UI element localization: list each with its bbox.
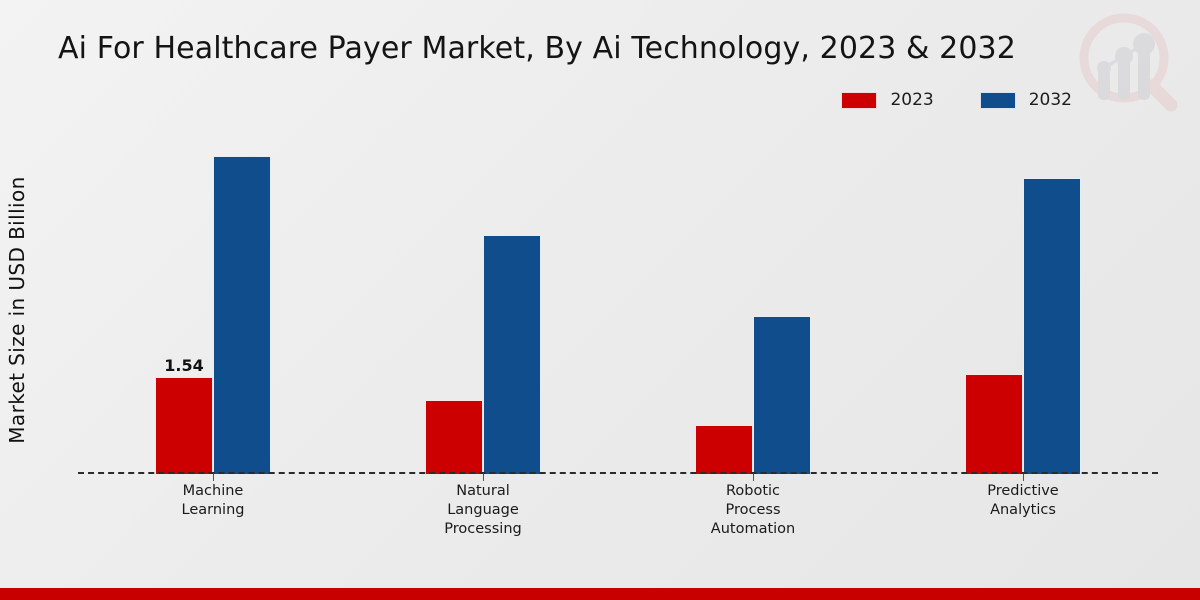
bar-group: 1.54MachineLearning <box>78 140 348 474</box>
x-axis-category-label: NaturalLanguageProcessing <box>444 482 521 539</box>
legend-item-2023[interactable]: 2023 <box>841 90 933 110</box>
bar-group: PredictiveAnalytics <box>888 140 1158 474</box>
legend-label-2032: 2032 <box>1029 90 1072 110</box>
category-label-line: Robotic <box>711 482 795 501</box>
x-axis-tick <box>1023 474 1024 481</box>
page-title: Ai For Healthcare Payer Market, By Ai Te… <box>58 31 1016 66</box>
bar-pair: 1.54 <box>155 140 271 474</box>
bar-pair <box>425 140 541 474</box>
bar-groups: 1.54MachineLearningNaturalLanguageProces… <box>78 140 1158 474</box>
bar-2032[interactable] <box>483 235 541 474</box>
category-label-line: Analytics <box>987 501 1058 520</box>
legend-swatch-2023 <box>841 92 877 109</box>
x-axis-baseline <box>78 472 1158 474</box>
x-axis-tick <box>753 474 754 481</box>
legend-item-2032[interactable]: 2032 <box>980 90 1072 110</box>
bar-2023[interactable] <box>965 374 1023 474</box>
bar-2032[interactable] <box>1023 178 1081 474</box>
x-axis-category-label: PredictiveAnalytics <box>987 482 1058 520</box>
legend-label-2023: 2023 <box>890 90 933 110</box>
bar-pair <box>695 140 811 474</box>
category-label-line: Learning <box>182 501 245 520</box>
category-label-line: Machine <box>182 482 245 501</box>
footer-accent-bar <box>0 588 1200 600</box>
bar-2023[interactable] <box>695 425 753 474</box>
category-label-line: Automation <box>711 520 795 539</box>
plot-area: 1.54MachineLearningNaturalLanguageProces… <box>78 140 1158 474</box>
bar-2023[interactable] <box>425 400 483 474</box>
category-label-line: Language <box>444 501 521 520</box>
bar-group: NaturalLanguageProcessing <box>348 140 618 474</box>
x-axis-tick <box>483 474 484 481</box>
category-label-line: Predictive <box>987 482 1058 501</box>
legend-swatch-2032 <box>980 92 1016 109</box>
bar-value-label: 1.54 <box>164 356 203 375</box>
bar-pair <box>965 140 1081 474</box>
bar-2023[interactable]: 1.54 <box>155 377 213 474</box>
category-label-line: Processing <box>444 520 521 539</box>
x-axis-tick <box>213 474 214 481</box>
chart-legend: 2023 2032 <box>841 90 1072 110</box>
magnifier-bar-chart-logo-icon <box>1070 6 1190 126</box>
y-axis-title: Market Size in USD Billion <box>0 145 34 475</box>
chart-page: Ai For Healthcare Payer Market, By Ai Te… <box>0 0 1200 600</box>
bar-2032[interactable] <box>753 316 811 474</box>
x-axis-category-label: RoboticProcessAutomation <box>711 482 795 539</box>
category-label-line: Natural <box>444 482 521 501</box>
x-axis-category-label: MachineLearning <box>182 482 245 520</box>
category-label-line: Process <box>711 501 795 520</box>
bar-2032[interactable] <box>213 156 271 474</box>
bar-group: RoboticProcessAutomation <box>618 140 888 474</box>
